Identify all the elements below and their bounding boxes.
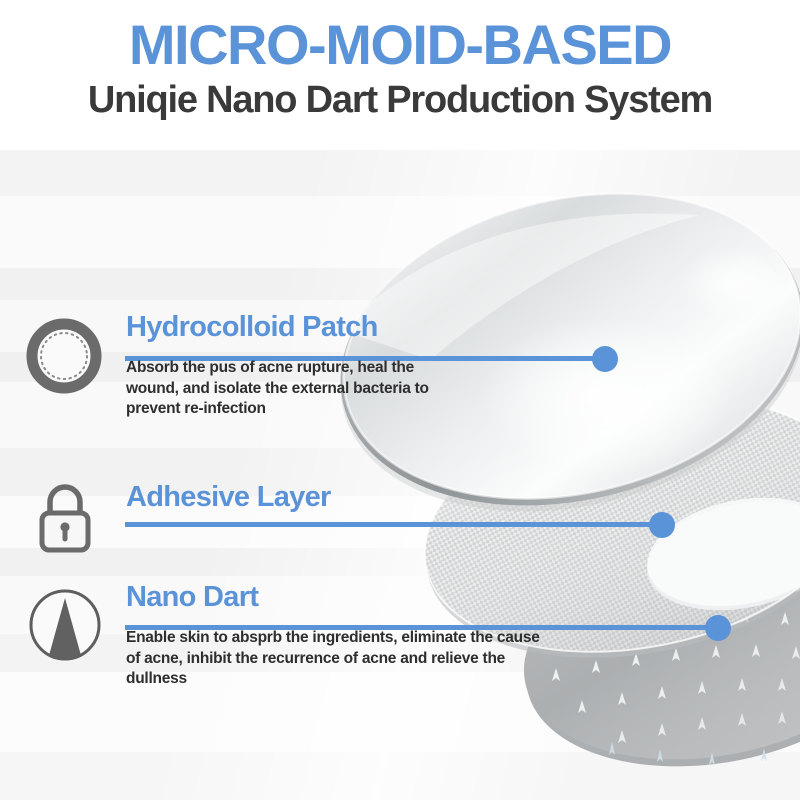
feature-title: Adhesive Layer <box>126 482 331 512</box>
lock-icon <box>34 480 96 561</box>
header: MICRO-MOID-BASED Uniqie Nano Dart Produc… <box>0 16 800 122</box>
page-title: MICRO-MOID-BASED <box>0 16 800 73</box>
feature-description: Enable skin to absprb the ingredients, e… <box>126 628 546 689</box>
feature-description: Absorb the pus of acne rupture, heal the… <box>126 358 466 419</box>
connector-dot <box>592 346 618 372</box>
ring-icon <box>26 318 102 399</box>
dart-icon <box>26 586 104 669</box>
infographic-page: MICRO-MOID-BASED Uniqie Nano Dart Produc… <box>0 0 800 800</box>
connector-dot <box>705 615 731 641</box>
connector-line <box>125 522 665 527</box>
feature-title: Hydrocolloid Patch <box>126 312 466 342</box>
feature-title: Nano Dart <box>126 582 546 612</box>
feature-body: Hydrocolloid Patch Absorb the pus of acn… <box>126 312 466 420</box>
connector-dot <box>649 512 675 538</box>
feature-body: Adhesive Layer <box>126 482 331 512</box>
page-subtitle: Uniqie Nano Dart Production System <box>0 79 800 122</box>
feature-body: Nano Dart Enable skin to absprb the ingr… <box>126 582 546 690</box>
